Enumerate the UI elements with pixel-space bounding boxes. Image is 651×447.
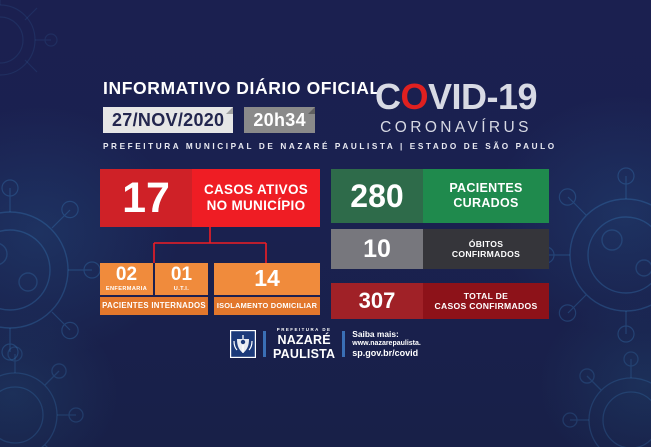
uti-label: U.T.I. [174, 286, 189, 292]
total-label: TOTAL DE CASOS CONFIRMADOS [423, 283, 549, 319]
obitos-label-line1: ÓBITOS [469, 239, 504, 249]
website-url-part2: sp.gov.br/covid [352, 348, 421, 359]
date-badge: 27/NOV/2020 [103, 107, 233, 133]
stat-enfermaria: 02 ENFERMARIA [100, 263, 153, 295]
connector-lines [100, 227, 320, 264]
casos-ativos-label-line1: CASOS ATIVOS [204, 182, 308, 198]
municipality-brand: PREFEITURA DE NAZARÉ PAULISTA [273, 328, 335, 360]
covid-letter-o-red: O [400, 76, 428, 117]
stat-panel-pacientes-internados: 02 ENFERMARIA 01 U.T.I. PACIENTES INTERN… [100, 263, 208, 315]
casos-ativos-value: 17 [100, 169, 192, 227]
curados-label-line2: CURADOS [453, 196, 518, 211]
stat-panel-casos-ativos: 17 CASOS ATIVOS NO MUNICÍPIO [100, 169, 320, 227]
stat-panel-pacientes-curados: 280 PACIENTES CURADOS [331, 169, 549, 223]
covid-letter-c: C [375, 76, 401, 117]
footer-divider-left [263, 331, 266, 357]
casos-ativos-label: CASOS ATIVOS NO MUNICÍPIO [192, 169, 320, 227]
municipality-subtitle: PREFEITURA MUNICIPAL DE NAZARÉ PAULISTA … [103, 142, 557, 151]
covid-wordmark: COVID-19 [360, 79, 552, 115]
covid19-logo: COVID-19 CORONAVÍRUS [360, 79, 552, 136]
website-info: Saiba mais: www.nazarepaulista. sp.gov.b… [352, 330, 421, 359]
casos-ativos-label-line2: NO MUNICÍPIO [207, 198, 306, 214]
obitos-label: ÓBITOS CONFIRMADOS [423, 229, 549, 269]
website-url-part1: www.nazarepaulista. [352, 340, 421, 348]
coronavirus-subtitle: CORONAVÍRUS [360, 120, 552, 136]
brand-prefix: PREFEITURA DE [273, 328, 335, 332]
virus-particle-top-left [0, 0, 75, 100]
internados-footer-label: PACIENTES INTERNADOS [100, 295, 208, 315]
uti-value: 01 [171, 265, 192, 284]
total-value: 307 [331, 283, 423, 319]
footer-block: PREFEITURA DE NAZARÉ PAULISTA Saiba mais… [230, 329, 421, 359]
curados-label: PACIENTES CURADOS [423, 169, 549, 223]
virus-background-watermark [0, 0, 651, 447]
covid-letters-rest: VID-19 [428, 76, 537, 117]
brand-line2: PAULISTA [273, 348, 335, 361]
footer-divider-right [342, 331, 345, 357]
stat-panel-isolamento-domiciliar: 14 ISOLAMENTO DOMICILIAR [214, 263, 320, 315]
curados-value: 280 [331, 169, 423, 223]
time-badge: 20h34 [244, 107, 315, 133]
coat-of-arms-icon [230, 330, 256, 358]
covid-report-poster: INFORMATIVO DIÁRIO OFICIAL 27/NOV/2020 2… [0, 0, 651, 447]
obitos-value: 10 [331, 229, 423, 269]
virus-particle-bottom-left [0, 330, 110, 447]
total-label-line2: CASOS CONFIRMADOS [435, 301, 538, 311]
stat-panel-obitos-confirmados: 10 ÓBITOS CONFIRMADOS [331, 229, 549, 269]
virus-particle-bottom-right [536, 335, 651, 447]
stat-panel-total-casos-confirmados: 307 TOTAL DE CASOS CONFIRMADOS [331, 283, 549, 319]
enfermaria-label: ENFERMARIA [106, 286, 147, 292]
curados-label-line1: PACIENTES [449, 181, 522, 196]
stat-uti: 01 U.T.I. [153, 263, 208, 295]
enfermaria-value: 02 [116, 265, 137, 284]
brand-line1: NAZARÉ [273, 334, 335, 347]
saiba-mais-label: Saiba mais: [352, 330, 421, 340]
isolamento-label: ISOLAMENTO DOMICILIAR [214, 295, 320, 315]
internados-cells: 02 ENFERMARIA 01 U.T.I. [100, 263, 208, 295]
total-label-line1: TOTAL DE [464, 291, 508, 301]
obitos-label-line2: CONFIRMADOS [452, 249, 520, 259]
isolamento-value: 14 [214, 263, 320, 295]
